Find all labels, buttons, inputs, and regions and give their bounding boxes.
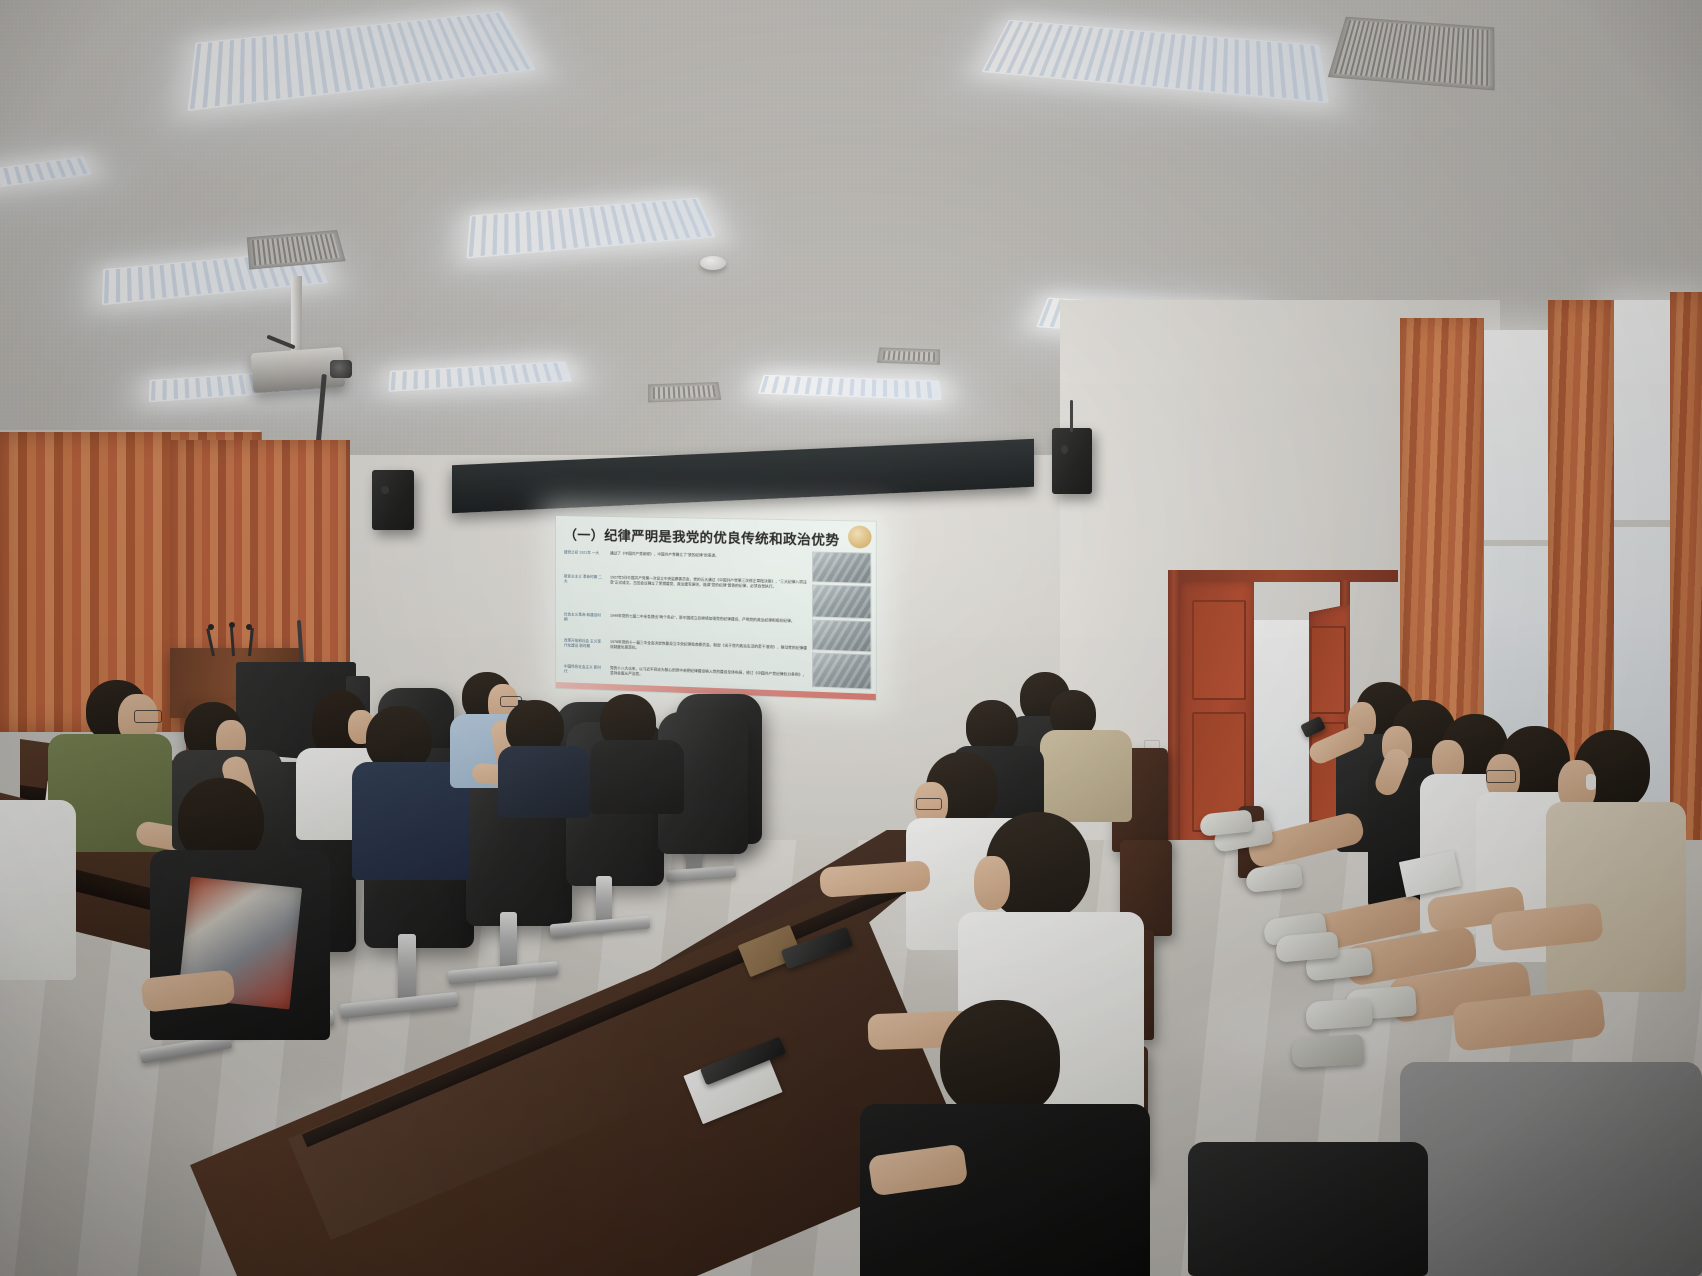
slide-title: （一）纪律严明是我党的优良传统和政治优势 [564,524,869,549]
head [940,1000,1060,1118]
slide-row-label: 新民主主义 革命时期 二大 [564,574,604,586]
slide-row-label: 建党之初 1921年 一大 [564,550,604,556]
torso [1188,1142,1428,1276]
chair-leg [398,934,416,1006]
glasses-icon [134,710,162,723]
slide-row: 新民主主义 革命时期 二大 1927年5月中国共产党第一次设立中央监察委员会，党… [564,574,810,591]
shoe [1291,1034,1364,1068]
slide-row-text: 1978年党的十一届三中全会决定恢复设立中央纪律检查委员会，制定《关于党内政治生… [610,640,810,658]
projected-slide: （一）纪律严明是我党的优良传统和政治优势 建党之初 1921年 一大 通过了《中… [556,516,876,700]
door-frame [1168,570,1398,582]
ceiling-vent [648,382,721,402]
glasses-icon [916,798,942,810]
microphone-head-icon [208,624,214,630]
projector-mount-pole [291,276,302,352]
slide-row-label: 中国特色社会主义 新时代 [564,664,604,676]
slide-photo-thumbnail [812,652,871,689]
curtain-left-inner [170,440,350,680]
conference-room-photo: （一）纪律严明是我党的优良传统和政治优势 建党之初 1921年 一大 通过了《中… [0,0,1702,1276]
speaker-cable [1070,400,1073,432]
slide-row-text: 通过了《中国共产党纲领》，中国共产党确立了"铁的纪律"的表述。 [610,551,810,561]
slide-row: 改革开放和社会 主义现代化建设 新时期 1978年党的十一届三中全会决定恢复设立… [564,638,810,657]
slide-row-label: 改革开放和社会 主义现代化建设 新时期 [564,638,604,650]
wall-speaker [372,470,414,530]
earbud-icon [1586,774,1596,790]
door-panel [1310,626,1346,714]
shoe [1305,998,1373,1031]
torso [1546,802,1686,992]
slide-row-text: 1949年党的七届二中全会提出"两个务必"，新中国成立后继续加强党的纪律建设，严… [610,614,810,631]
slide-row-text: 1927年5月中国共产党第一次设立中央监察委员会，党的五大通过《中国共产党第三次… [610,575,810,591]
projector-lens-icon [330,360,352,378]
smoke-detector-icon [700,256,726,270]
door-panel [1192,600,1246,700]
ceiling-vent [877,347,940,364]
torso [590,740,684,814]
slide-row: 中国特色社会主义 新时代 党的十八大以来，以习近平同志为核心的党中央把纪律建设纳… [564,664,810,684]
torso [498,746,590,818]
slide-photo-thumbnail [812,619,871,652]
face [974,856,1010,910]
party-emblem-icon [848,525,871,548]
wall-speaker [1052,428,1092,494]
slide-row: 社会主义革命 和建设时期 1949年党的七届二中全会提出"两个务必"，新中国成立… [564,612,810,630]
microphone-head-icon [229,622,235,628]
torso [1400,1062,1702,1276]
slide-row: 建党之初 1921年 一大 通过了《中国共产党纲领》，中国共产党确立了"铁的纪律… [564,550,810,561]
microphone-head-icon [246,624,252,630]
slide-row-text: 党的十八大以来，以习近平同志为核心的党中央把纪律建设纳入党的建设总体布局，修订《… [610,666,810,684]
slide-photo-thumbnail [812,552,871,584]
torso [1040,730,1132,822]
glasses-icon [1486,770,1516,783]
window-frame [1476,540,1556,546]
slide-photo-thumbnail [812,584,871,619]
slide-row-label: 社会主义革命 和建设时期 [564,612,604,624]
shoe [1275,931,1339,962]
torso [0,800,76,980]
